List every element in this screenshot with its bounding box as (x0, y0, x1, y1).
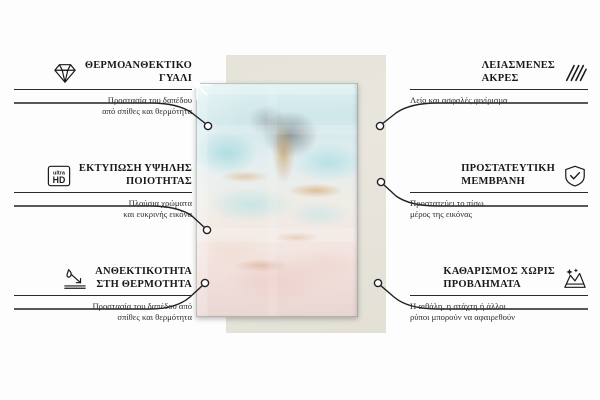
feature-description: Προστατεύει το πίσω μέρος της εικόνας (410, 198, 588, 220)
feature-title: ΚΑΘΑΡΙΣΜΟΣ ΧΩΡΙΣ ΠΡΟΒΛΗΜΑΤΑ (443, 266, 555, 291)
polished-edges-icon (562, 61, 588, 85)
feature-protective-membrane: ΠΡΟΣΤΑΤΕΥΤΙΚΗ ΜΕΜΒΡΑΝΗ Προστατεύει το πί… (410, 163, 588, 220)
feature-polished-edges: ΛΕΙΑΣΜΕΝΕΣ ΑΚΡΕΣ Λείο και ασφαλές φινίρι… (410, 60, 588, 106)
feature-description: Λείο και ασφαλές φινίρισμα (410, 95, 588, 106)
feature-description: Προστασία του δαπέδου από σπίθες και θερ… (14, 301, 192, 323)
feature-title: ΑΝΘΕΚΤΙΚΟΤΗΤΑ ΣΤΗ ΘΕΡΜΟΤΗΤΑ (95, 266, 192, 291)
feature-header: ΠΡΟΣΤΑΤΕΥΤΙΚΗ ΜΕΜΒΡΑΝΗ (410, 163, 588, 188)
feature-title: ΘΕΡΜΟΑΝΘΕΚΤΙΚΟ ΓΥΑΛΙ (85, 60, 192, 85)
feature-header: ΛΕΙΑΣΜΕΝΕΣ ΑΚΡΕΣ (410, 60, 588, 85)
shield-check-icon (562, 164, 588, 188)
divider (410, 89, 588, 90)
feature-header: ultra HD ΕΚΤΥΠΩΣΗ ΥΨΗΛΗΣ ΠΟΙΟΤΗΤΑΣ (14, 163, 192, 188)
feature-header: ΘΕΡΜΟΑΝΘΕΚΤΙΚΟ ΓΥΑΛΙ (14, 60, 192, 85)
heat-resistance-icon (62, 267, 88, 291)
feature-title: ΠΡΟΣΤΑΤΕΥΤΙΚΗ ΜΕΜΒΡΑΝΗ (461, 163, 555, 188)
feature-header: ΑΝΘΕΚΤΙΚΟΤΗΤΑ ΣΤΗ ΘΕΡΜΟΤΗΤΑ (14, 266, 192, 291)
feature-description: Η αιθάλη, η στάχτη ή άλλοι ρύποι μπορούν… (410, 301, 588, 323)
feature-title: ΛΕΙΑΣΜΕΝΕΣ ΑΚΡΕΣ (482, 60, 555, 85)
feature-description: Πλούσια χρώματα και ευκρινής εικόνα (14, 198, 192, 220)
infographic-stage: ΘΕΡΜΟΑΝΘΕΚΤΙΚΟ ΓΥΑΛΙ Προστασία του δαπέδ… (0, 0, 600, 400)
feature-high-quality-print: ultra HD ΕΚΤΥΠΩΣΗ ΥΨΗΛΗΣ ΠΟΙΟΤΗΤΑΣ Πλούσ… (14, 163, 192, 220)
divider (410, 295, 588, 296)
feature-easy-cleaning: ΚΑΘΑΡΙΣΜΟΣ ΧΩΡΙΣ ΠΡΟΒΛΗΜΑΤΑ Η αιθάλη, η … (410, 266, 588, 323)
divider (14, 192, 192, 193)
easy-clean-sparkle-icon (562, 267, 588, 291)
divider (14, 89, 192, 90)
feature-heat-resistance: ΑΝΘΕΚΤΙΚΟΤΗΤΑ ΣΤΗ ΘΕΡΜΟΤΗΤΑ Προστασία το… (14, 266, 192, 323)
divider (410, 192, 588, 193)
feature-description: Προστασία του δαπέδου από σπίθες και θερ… (14, 95, 192, 117)
feature-header: ΚΑΘΑΡΙΣΜΟΣ ΧΩΡΙΣ ΠΡΟΒΛΗΜΑΤΑ (410, 266, 588, 291)
svg-text:HD: HD (53, 175, 66, 185)
feature-heat-resistant-glass: ΘΕΡΜΟΑΝΘΕΚΤΙΚΟ ΓΥΑΛΙ Προστασία του δαπέδ… (14, 60, 192, 117)
feature-title: ΕΚΤΥΠΩΣΗ ΥΨΗΛΗΣ ΠΟΙΟΤΗΤΑΣ (79, 163, 192, 188)
diamond-icon (52, 61, 78, 85)
ultra-hd-icon: ultra HD (46, 164, 72, 188)
divider (14, 295, 192, 296)
